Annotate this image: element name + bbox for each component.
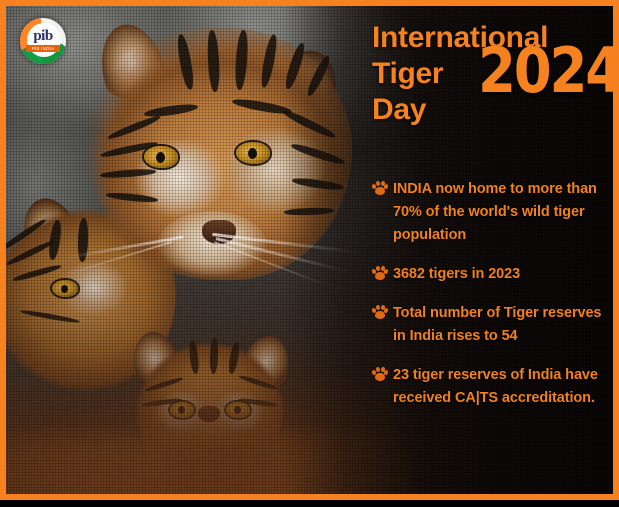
poster-canvas: pib PIB INDIA International Tiger Day 20… — [6, 6, 613, 494]
list-item: 23 tiger reserves of India have received… — [372, 364, 604, 410]
paw-print-icon — [372, 367, 387, 382]
poster-frame: pib PIB INDIA International Tiger Day 20… — [0, 0, 619, 500]
poster-text-column: International Tiger Day 2024 INDIA now h… — [372, 20, 604, 426]
logo-wordmark: pib — [20, 29, 66, 44]
fact-list: INDIA now home to more than 70% of the w… — [372, 178, 604, 410]
headline-block: International Tiger Day 2024 — [372, 20, 604, 170]
paw-print-icon — [372, 305, 387, 320]
fact-text: 23 tiger reserves of India have received… — [393, 364, 604, 410]
fact-text: INDIA now home to more than 70% of the w… — [393, 178, 604, 247]
paw-print-icon — [372, 266, 387, 281]
fact-text: Total number of Tiger reserves in India … — [393, 302, 604, 348]
list-item: INDIA now home to more than 70% of the w… — [372, 178, 604, 247]
list-item: 3682 tigers in 2023 — [372, 263, 604, 286]
paw-print-icon — [372, 181, 387, 196]
pib-logo[interactable]: pib PIB INDIA — [20, 18, 66, 64]
tiger-day-poster: pib PIB INDIA International Tiger Day 20… — [0, 0, 619, 507]
list-item: Total number of Tiger reserves in India … — [372, 302, 604, 348]
logo-banner-text: PIB INDIA — [26, 45, 60, 52]
fact-text: 3682 tigers in 2023 — [393, 263, 520, 286]
year-label: 2024 — [478, 40, 613, 102]
